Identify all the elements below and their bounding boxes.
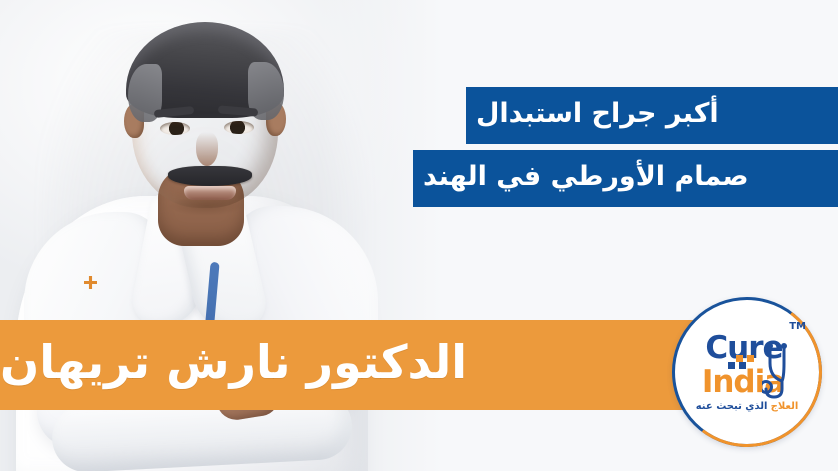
doctor-name-banner: الدكتور نارش تريهان <box>0 320 700 410</box>
stethoscope-icon <box>762 343 808 405</box>
banner-canvas: أكبر جراح استبدال صمام الأورطي في الهند … <box>0 0 838 471</box>
logo-tagline-blue: الذي تبحث عنه <box>696 401 768 412</box>
cure-india-logo[interactable]: Cure India العلاج الذي تبحث عنه TM <box>672 297 822 447</box>
doctor-eye-right <box>224 121 254 134</box>
logo-accent-square-4 <box>739 362 746 369</box>
doctor-eye-left <box>160 122 190 135</box>
doctor-mustache <box>168 166 252 186</box>
doctor-chin-shadow <box>168 196 244 216</box>
logo-accent-square-3 <box>728 362 735 369</box>
headline-line-2: صمام الأورطي في الهند <box>413 150 838 207</box>
logo-accent-square-1 <box>736 355 743 362</box>
trademark-symbol: TM <box>789 321 806 332</box>
doctor-nose <box>196 132 218 166</box>
logo-accent-square-2 <box>747 355 754 362</box>
headline-line-1: أكبر جراح استبدال <box>466 87 838 144</box>
